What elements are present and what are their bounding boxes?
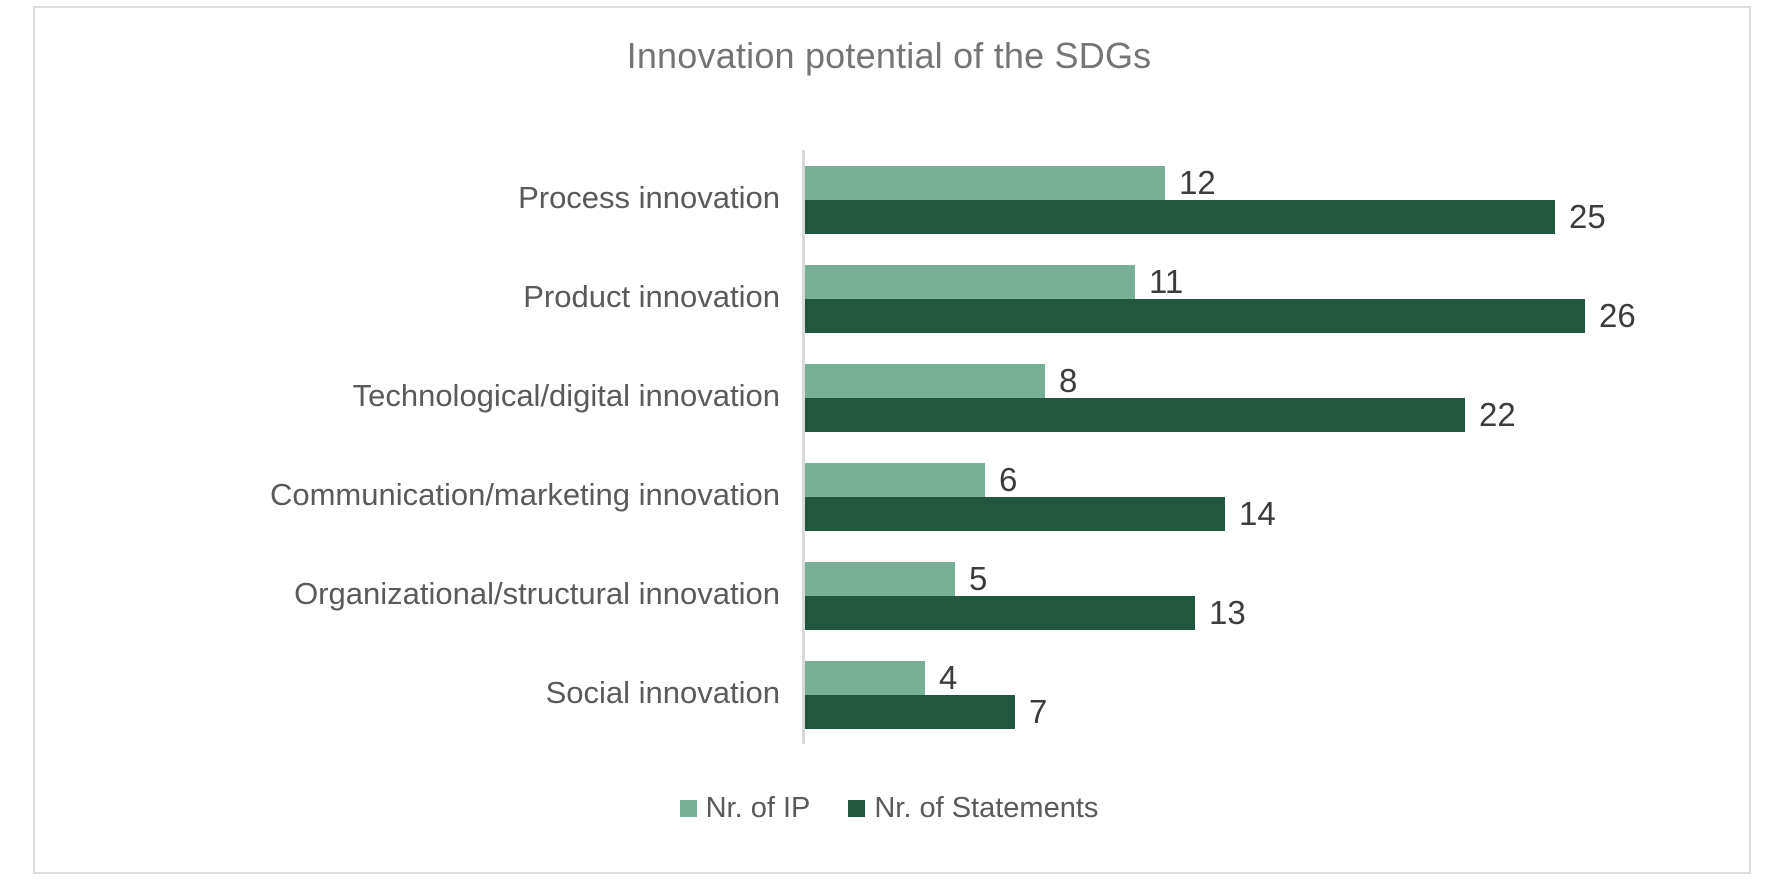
bar-nr-of-statements[interactable]: [805, 398, 1465, 432]
bar-nr-of-ip[interactable]: [805, 661, 925, 695]
chart-container: Innovation potential of the SDGs Process…: [0, 0, 1778, 884]
bar-value-label: 4: [939, 661, 957, 694]
legend-swatch-nr-of-ip: [680, 800, 697, 817]
bar-value-label: 14: [1239, 497, 1276, 530]
category-label: Process innovation: [60, 180, 780, 216]
bar-nr-of-ip[interactable]: [805, 562, 955, 596]
category-label: Communication/marketing innovation: [60, 477, 780, 513]
plot-area: Process innovation1225Product innovation…: [0, 0, 1778, 884]
legend-item-nr-of-ip[interactable]: Nr. of IP: [680, 792, 811, 825]
legend-swatch-nr-of-statements: [848, 800, 865, 817]
category-label: Social innovation: [60, 675, 780, 711]
bar-nr-of-statements[interactable]: [805, 497, 1225, 531]
bar-value-label: 12: [1179, 166, 1216, 199]
bar-value-label: 26: [1599, 299, 1636, 332]
bar-value-label: 5: [969, 562, 987, 595]
bar-value-label: 22: [1479, 398, 1516, 431]
category-label: Organizational/structural innovation: [60, 576, 780, 612]
bar-value-label: 13: [1209, 596, 1246, 629]
bar-value-label: 7: [1029, 695, 1047, 728]
bar-nr-of-statements[interactable]: [805, 695, 1015, 729]
legend-label-nr-of-statements: Nr. of Statements: [874, 792, 1098, 825]
bar-value-label: 8: [1059, 364, 1077, 397]
bar-nr-of-statements[interactable]: [805, 200, 1555, 234]
bar-nr-of-statements[interactable]: [805, 299, 1585, 333]
category-label: Technological/digital innovation: [60, 378, 780, 414]
bar-nr-of-ip[interactable]: [805, 265, 1135, 299]
chart-legend: Nr. of IP Nr. of Statements: [0, 792, 1778, 825]
bar-nr-of-ip[interactable]: [805, 166, 1165, 200]
bar-nr-of-statements[interactable]: [805, 596, 1195, 630]
bar-value-label: 25: [1569, 200, 1606, 233]
category-axis-line: [802, 150, 805, 744]
bar-nr-of-ip[interactable]: [805, 463, 985, 497]
bar-nr-of-ip[interactable]: [805, 364, 1045, 398]
category-label: Product innovation: [60, 279, 780, 315]
legend-label-nr-of-ip: Nr. of IP: [706, 792, 811, 825]
legend-item-nr-of-statements[interactable]: Nr. of Statements: [848, 792, 1098, 825]
bar-value-label: 6: [999, 463, 1017, 496]
bar-value-label: 11: [1149, 265, 1183, 298]
